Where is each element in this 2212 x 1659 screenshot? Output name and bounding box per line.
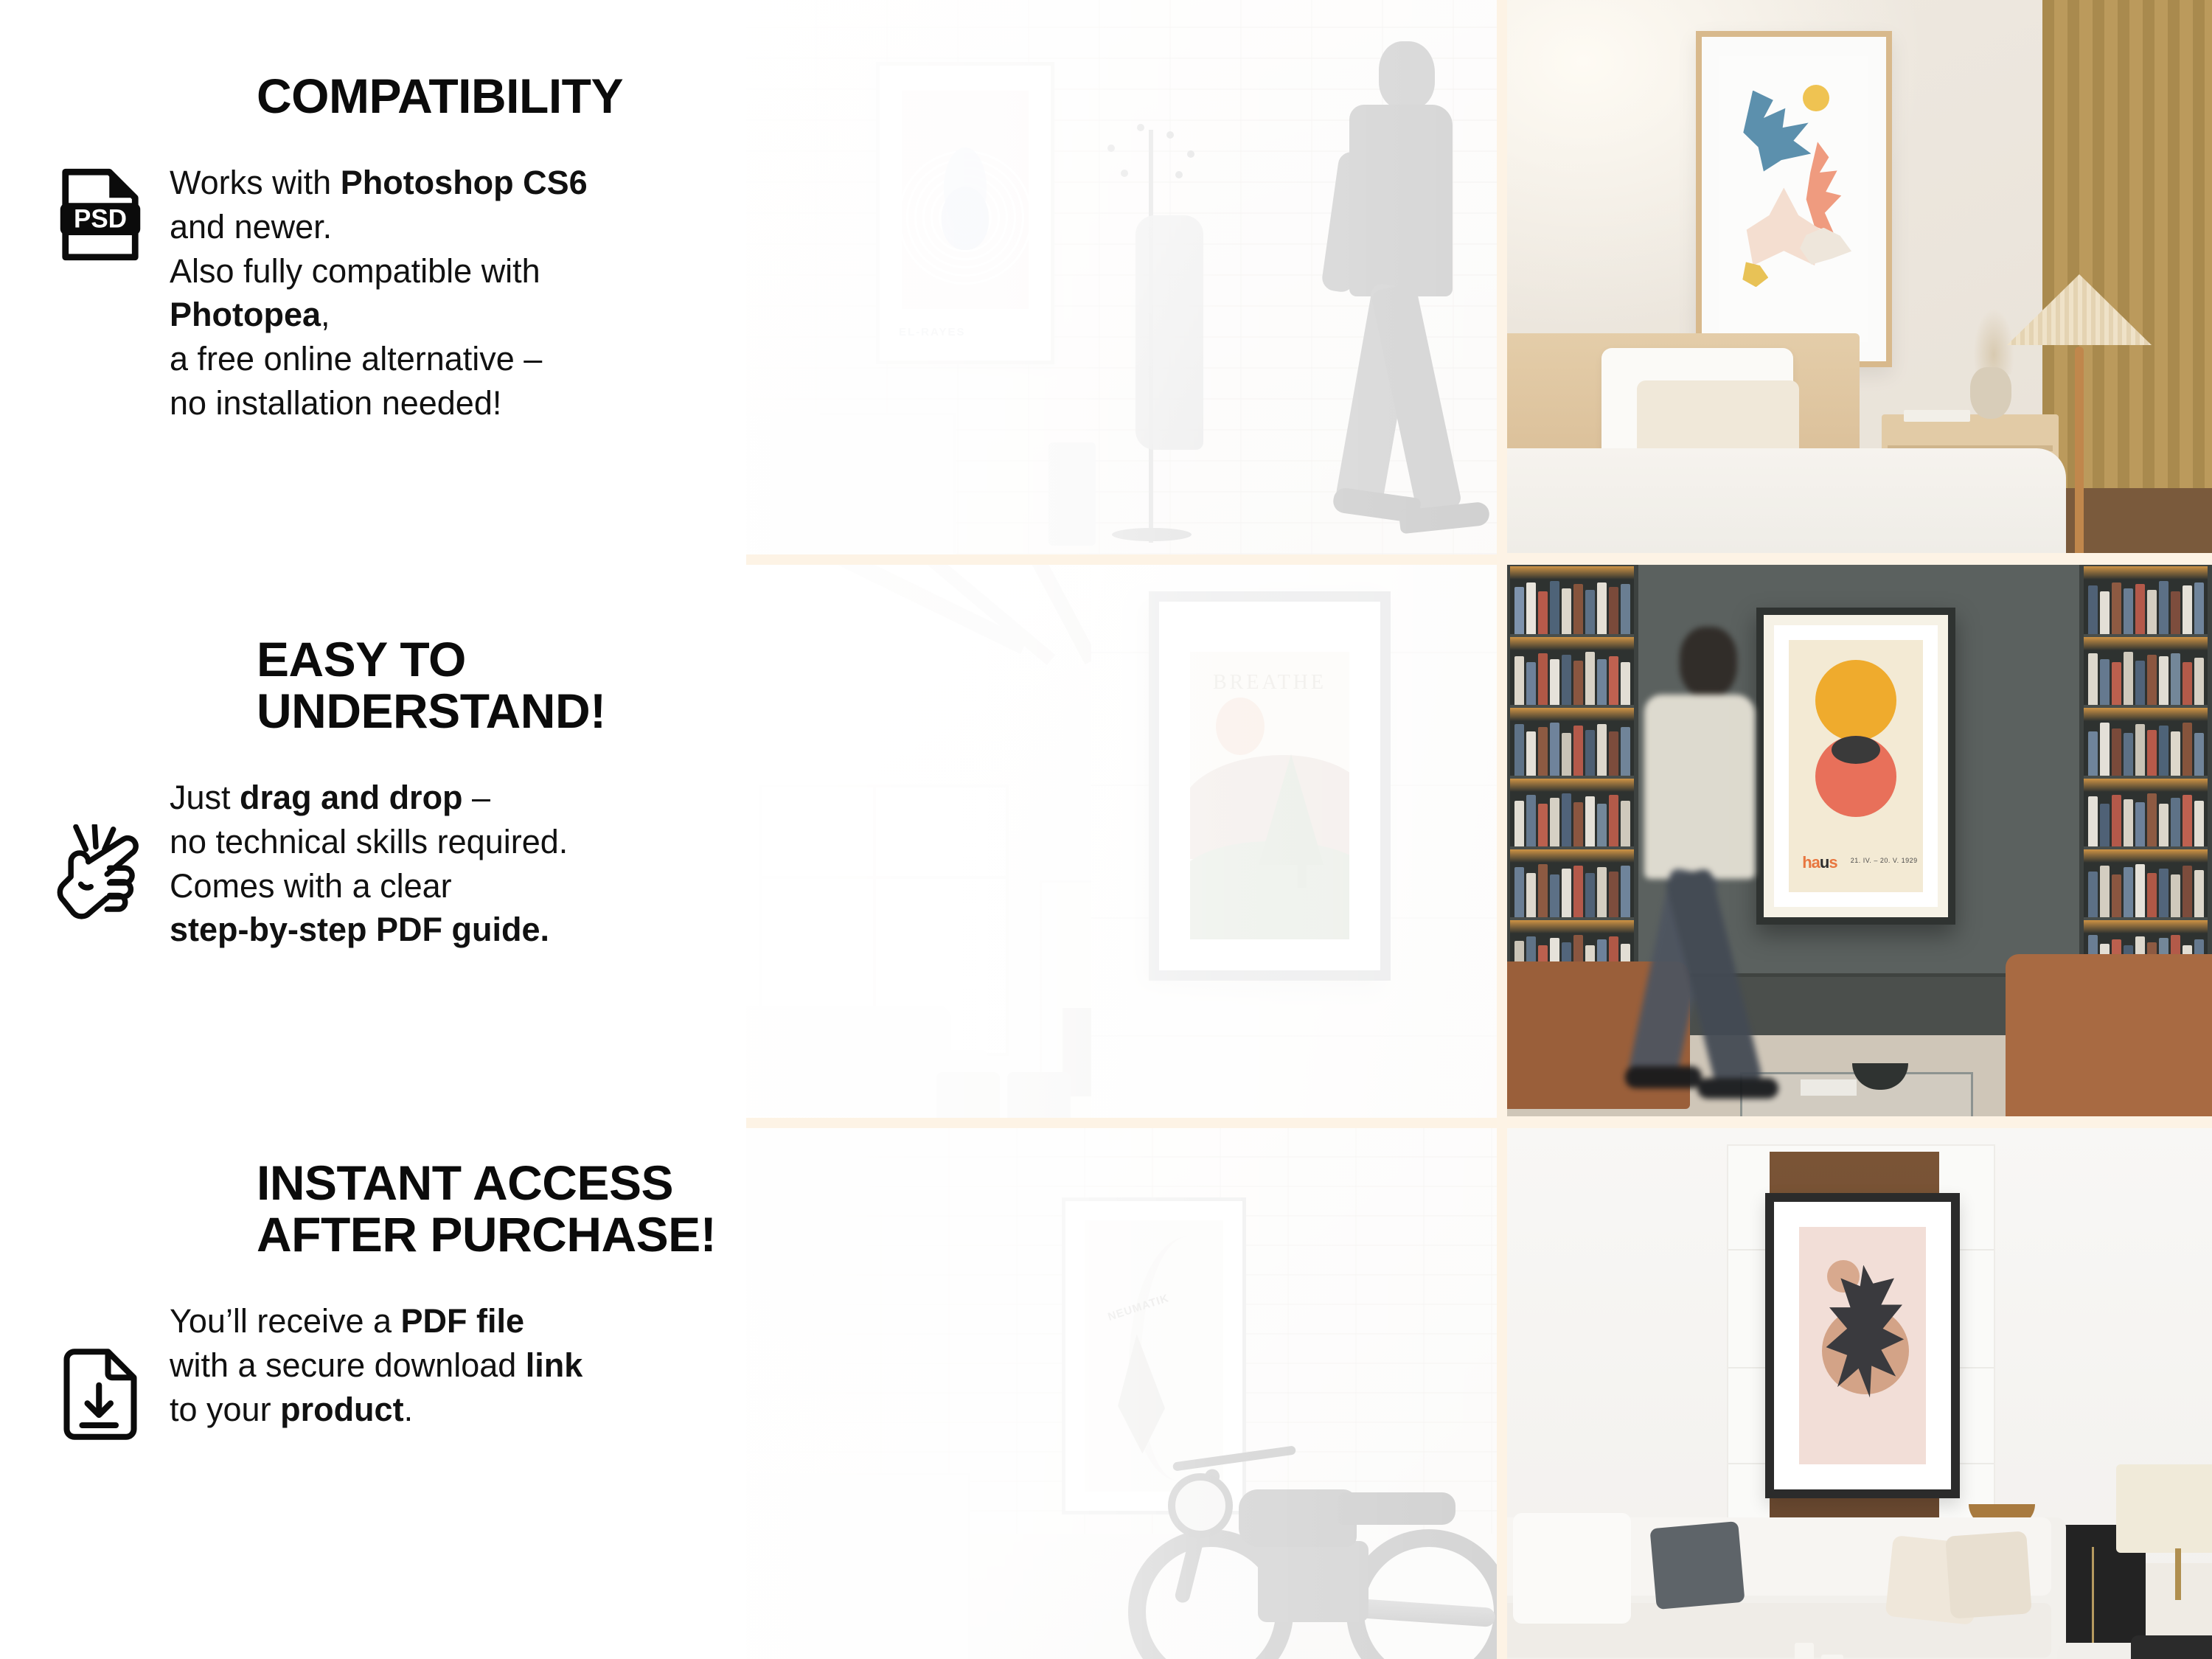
psd-file-icon: PSD — [59, 168, 142, 261]
faded-photo-vaulted-living-room: BREATHE — [745, 563, 1504, 1118]
poster-abstract-matisse — [1696, 31, 1892, 367]
finger-snap-icon — [50, 824, 142, 922]
poster-dark-leaf — [1765, 1193, 1960, 1498]
promo-board: EL-RAYES — [0, 0, 2212, 1659]
panel-seam-row2 — [1497, 1116, 2212, 1128]
page-title-easy-to-understand: EASY TO UNDERSTAND! — [257, 634, 752, 737]
feature-block-easy-to-understand: EASY TO UNDERSTAND! — [0, 634, 752, 952]
feature-block-compatibility: COMPATIBILITY PSD Works with Photoshop C… — [0, 71, 752, 425]
copy-column: COMPATIBILITY PSD Works with Photoshop C… — [0, 0, 752, 1659]
page-title-compatibility: COMPATIBILITY — [257, 71, 752, 122]
photo-library-lounge-scene: haus 21. IV. – 20. V. 1929 — [1506, 563, 2212, 1118]
icon-cell: PSD — [0, 161, 170, 261]
feature-body-instant-access: You’ll receive a PDF file with a secure … — [170, 1299, 582, 1432]
feature-body-compatibility: Works with Photoshop CS6 and newer. Also… — [170, 161, 700, 425]
faded-photo-entryway-man-walking: EL-RAYES — [745, 0, 1504, 554]
icon-cell — [0, 776, 170, 922]
mid-seam-row1 — [737, 554, 1508, 565]
panel-seam-vertical — [1497, 0, 1507, 1659]
photo-modern-living-room-scene — [1506, 1127, 2212, 1659]
feature-body-easy-to-understand: Just drag and drop – no technical skills… — [170, 776, 568, 952]
file-download-icon — [59, 1348, 142, 1441]
walking-man-figure — [1609, 627, 1786, 1113]
feature-block-instant-access: INSTANT ACCESS AFTER PURCHASE! You’ll re… — [0, 1158, 752, 1441]
faded-photo-brick-garage-motorcycle: NEUMATIK — [745, 1127, 1504, 1659]
psd-icon-label: PSD — [74, 204, 127, 233]
icon-cell — [0, 1299, 170, 1441]
panel-seam-row1 — [1497, 553, 2212, 565]
mid-seam-row2 — [737, 1118, 1508, 1128]
page-title-instant-access: INSTANT ACCESS AFTER PURCHASE! — [257, 1158, 752, 1261]
poster-title: haus — [1802, 853, 1837, 872]
poster-haus-bauhaus: haus 21. IV. – 20. V. 1929 — [1756, 608, 1955, 925]
poster-date: 21. IV. – 20. V. 1929 — [1851, 857, 1918, 864]
photo-bedroom-scene — [1506, 0, 2212, 554]
